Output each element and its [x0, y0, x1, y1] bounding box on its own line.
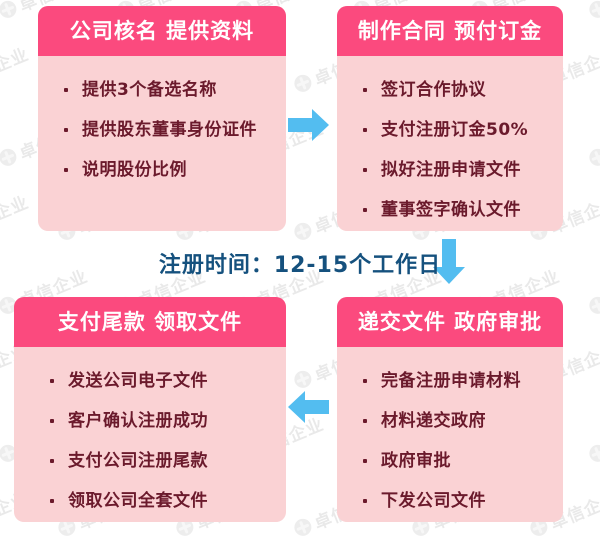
bullet-dot-icon — [363, 128, 367, 132]
watermark-text: 卓信企业 — [0, 40, 32, 90]
list-item-label: 领取公司全套文件 — [68, 488, 208, 514]
globe-logo-icon — [0, 146, 19, 168]
card-title: 递交文件 政府审批 — [337, 297, 563, 347]
list-item-label: 拟好注册申请文件 — [381, 157, 521, 183]
list-item-label: 提供股东董事身份证件 — [82, 117, 257, 143]
bullet-dot-icon — [50, 499, 54, 503]
process-card-contract-deposit: 制作合同 预付订金 签订合作协议 支付注册订金50% 拟好注册申请文件 董事签字… — [337, 6, 563, 231]
process-card-company-name-verification: 公司核名 提供资料 提供3个备选名称 提供股东董事身份证件 说明股份比例 — [38, 6, 286, 231]
list-item-label: 提供3个备选名称 — [82, 77, 217, 103]
list-item: 政府审批 — [337, 448, 563, 474]
bullet-dot-icon — [363, 419, 367, 423]
list-item-label: 下发公司文件 — [381, 488, 486, 514]
watermark-item: 卓信企业 — [585, 410, 600, 468]
process-card-submit-government-approval: 递交文件 政府审批 完备注册申请材料 材料递交政府 政府审批 下发公司文件 — [337, 297, 563, 522]
card-bullet-list: 提供3个备选名称 提供股东董事身份证件 说明股份比例 — [38, 56, 286, 200]
list-item-label: 支付注册订金50% — [381, 117, 528, 143]
list-item-label: 完备注册申请材料 — [381, 368, 521, 394]
list-item: 客户确认注册成功 — [14, 408, 286, 434]
card-bullet-list: 发送公司电子文件 客户确认注册成功 支付公司注册尾款 领取公司全套文件 — [14, 347, 286, 522]
card-title: 支付尾款 领取文件 — [14, 297, 286, 347]
card-bullet-list: 完备注册申请材料 材料递交政府 政府审批 下发公司文件 — [337, 347, 563, 522]
list-item: 董事签字确认文件 — [337, 197, 563, 223]
card-title: 公司核名 提供资料 — [38, 6, 286, 56]
watermark-item: 卓信企业 — [585, 0, 600, 24]
list-item: 说明股份比例 — [38, 157, 286, 183]
bullet-dot-icon — [64, 88, 68, 92]
bullet-dot-icon — [50, 379, 54, 383]
bullet-dot-icon — [64, 168, 68, 172]
globe-logo-icon — [0, 0, 19, 20]
list-item: 材料递交政府 — [337, 408, 563, 434]
list-item: 下发公司文件 — [337, 488, 563, 514]
list-item: 支付注册订金50% — [337, 117, 563, 143]
list-item: 签订合作协议 — [337, 77, 563, 103]
list-item-label: 签订合作协议 — [381, 77, 486, 103]
list-item-label: 政府审批 — [381, 448, 451, 474]
list-item-label: 客户确认注册成功 — [68, 408, 208, 434]
list-item-label: 支付公司注册尾款 — [68, 448, 208, 474]
list-item: 提供股东董事身份证件 — [38, 117, 286, 143]
registration-time-label: 注册时间：12-15个工作日 — [159, 253, 441, 278]
list-item-label: 发送公司电子文件 — [68, 368, 208, 394]
list-item: 提供3个备选名称 — [38, 77, 286, 103]
list-item-label: 材料递交政府 — [381, 408, 486, 434]
list-item: 支付公司注册尾款 — [14, 448, 286, 474]
globe-logo-icon — [587, 146, 600, 168]
bullet-dot-icon — [50, 419, 54, 423]
watermark-text: 卓信企业 — [0, 188, 32, 238]
globe-logo-icon — [292, 516, 314, 538]
globe-logo-icon — [587, 0, 600, 20]
bullet-dot-icon — [363, 459, 367, 463]
watermark-item: 卓信企业 — [0, 188, 32, 246]
globe-logo-icon — [292, 72, 314, 94]
registration-time-banner: 注册时间：12-15个工作日 — [0, 247, 600, 279]
list-item: 发送公司电子文件 — [14, 368, 286, 394]
watermark-item: 卓信企业 — [585, 114, 600, 172]
globe-logo-icon — [292, 220, 314, 242]
list-item: 领取公司全套文件 — [14, 488, 286, 514]
watermark-item: 卓信企业 — [0, 40, 32, 98]
bullet-dot-icon — [363, 88, 367, 92]
list-item-label: 说明股份比例 — [82, 157, 187, 183]
bullet-dot-icon — [363, 168, 367, 172]
globe-logo-icon — [587, 442, 600, 464]
arrow-right-icon — [288, 108, 330, 146]
card-bullet-list: 签订合作协议 支付注册订金50% 拟好注册申请文件 董事签字确认文件 — [337, 56, 563, 231]
list-item-label: 董事签字确认文件 — [381, 197, 521, 223]
list-item: 拟好注册申请文件 — [337, 157, 563, 183]
bullet-dot-icon — [363, 499, 367, 503]
globe-logo-icon — [587, 294, 600, 316]
arrow-left-icon — [288, 390, 330, 428]
bullet-dot-icon — [50, 459, 54, 463]
globe-logo-icon — [292, 368, 314, 390]
bullet-dot-icon — [64, 128, 68, 132]
bullet-dot-icon — [363, 208, 367, 212]
bullet-dot-icon — [363, 379, 367, 383]
card-title: 制作合同 预付订金 — [337, 6, 563, 56]
process-card-final-payment-documents: 支付尾款 领取文件 发送公司电子文件 客户确认注册成功 支付公司注册尾款 领取公… — [14, 297, 286, 522]
list-item: 完备注册申请材料 — [337, 368, 563, 394]
